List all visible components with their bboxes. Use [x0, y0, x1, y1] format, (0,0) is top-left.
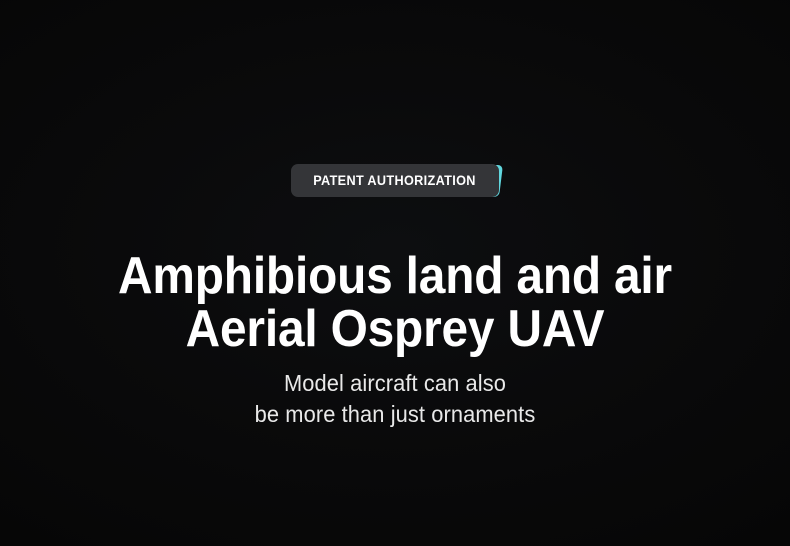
hero-banner: PATENT AUTHORIZATION Amphibious land and… [0, 0, 790, 546]
page-title: Amphibious land and air Aerial Osprey UA… [0, 250, 790, 356]
page-subtitle-line-1: Model aircraft can also [20, 368, 771, 399]
patent-authorization-badge: PATENT AUTHORIZATION [291, 164, 499, 197]
badge-body: PATENT AUTHORIZATION [291, 164, 499, 197]
page-title-line-1: Amphibious land and air [32, 250, 759, 303]
page-subtitle-line-2: be more than just ornaments [20, 399, 771, 430]
page-title-line-2: Aerial Osprey UAV [32, 303, 759, 356]
badge-label: PATENT AUTHORIZATION [313, 174, 476, 188]
page-subtitle: Model aircraft can also be more than jus… [0, 368, 790, 430]
badge-container: PATENT AUTHORIZATION [0, 164, 790, 197]
